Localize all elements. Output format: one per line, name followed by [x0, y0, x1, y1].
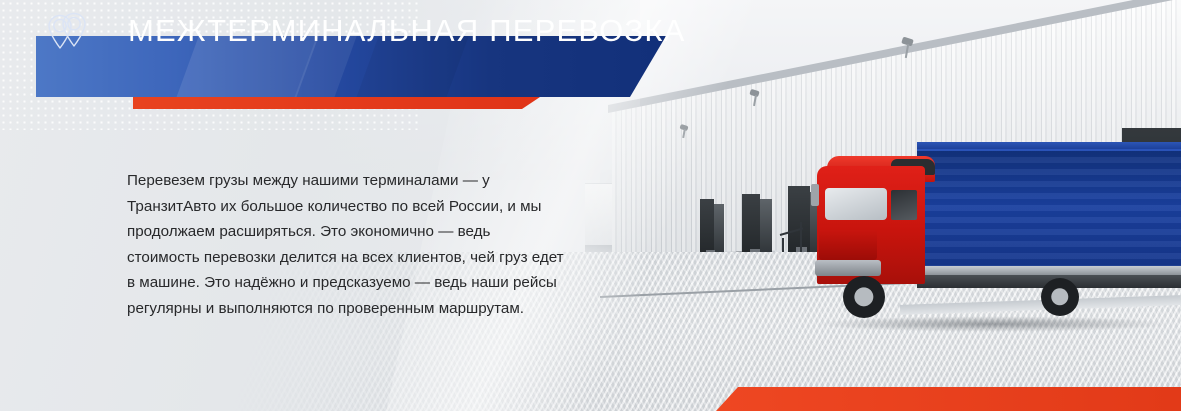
dock-shelter — [788, 186, 810, 254]
truck-bumper — [815, 260, 881, 276]
description-text: Перевезем грузы между нашими терминалами… — [127, 168, 567, 322]
title-accent-bar — [133, 97, 540, 109]
description-paragraph: Перевезем грузы между нашими терминалами… — [127, 168, 567, 322]
truck-mirror — [811, 184, 819, 206]
page-title: МЕЖТЕРМИНАЛЬНАЯ ПЕРЕВОЗКА — [128, 0, 686, 61]
truck-cargo-box — [917, 149, 1181, 271]
truck-windshield — [825, 188, 887, 220]
truck-shadow — [813, 316, 1173, 332]
banner-hero: МЕЖТЕРМИНАЛЬНАЯ ПЕРЕВОЗКА Перевезем груз… — [0, 0, 1181, 411]
truck-box-side-rail — [917, 266, 1181, 275]
dock-shelter — [742, 194, 760, 256]
truck-grille — [819, 230, 877, 260]
delivery-truck — [813, 148, 1181, 348]
truck-front-wheel — [843, 276, 885, 318]
double-map-pin-icon — [44, 12, 96, 52]
dock-door — [760, 199, 772, 255]
truck-side-window — [891, 190, 917, 220]
bottom-accent-bar — [716, 387, 1181, 411]
truck-rear-wheel — [1041, 278, 1079, 316]
